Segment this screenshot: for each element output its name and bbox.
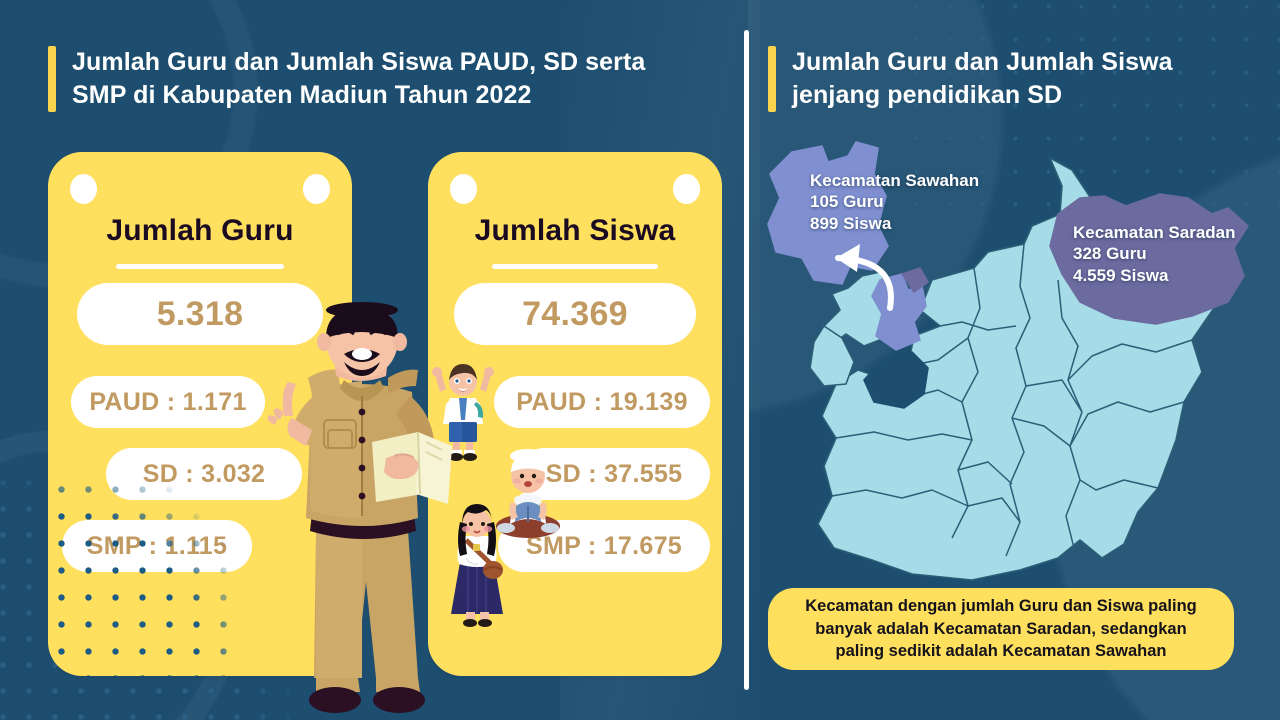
map-caption-box: Kecamatan dengan jumlah Guru dan Siswa p…	[768, 588, 1234, 670]
card-title-underline	[116, 264, 284, 269]
right-panel-title: Jumlah Guru dan Jumlah Siswa jenjang pen…	[768, 46, 1238, 112]
card-siswa-total-value: 74.369	[454, 283, 696, 345]
map-label-saradan: Kecamatan Saradan 328 Guru 4.559 Siswa	[1073, 222, 1236, 286]
card-punch-hole-right	[673, 174, 700, 204]
left-panel-title: Jumlah Guru dan Jumlah Siswa PAUD, SD se…	[48, 46, 708, 112]
card-siswa-row-paud: PAUD : 19.139	[494, 376, 710, 428]
card-guru-row-paud: PAUD : 1.171	[71, 376, 265, 428]
card-guru-title: Jumlah Guru	[48, 214, 352, 248]
left-panel-title-text: Jumlah Guru dan Jumlah Siswa PAUD, SD se…	[72, 46, 645, 112]
title-accent-bar	[48, 46, 56, 112]
title-accent-bar	[768, 46, 776, 112]
card-dot-pattern	[48, 476, 238, 676]
right-panel-title-text: Jumlah Guru dan Jumlah Siswa jenjang pen…	[792, 46, 1173, 112]
card-punch-hole-right	[303, 174, 330, 204]
infographic-canvas: Jumlah Guru dan Jumlah Siswa PAUD, SD se…	[0, 0, 1280, 720]
vertical-divider	[744, 30, 749, 690]
card-punch-hole-left	[70, 174, 97, 204]
card-title-underline	[492, 264, 658, 269]
card-siswa-title: Jumlah Siswa	[428, 214, 722, 248]
card-punch-hole-left	[450, 174, 477, 204]
teacher-illustration	[268, 300, 458, 720]
map-label-sawahan: Kecamatan Sawahan 105 Guru 899 Siswa	[810, 170, 979, 234]
